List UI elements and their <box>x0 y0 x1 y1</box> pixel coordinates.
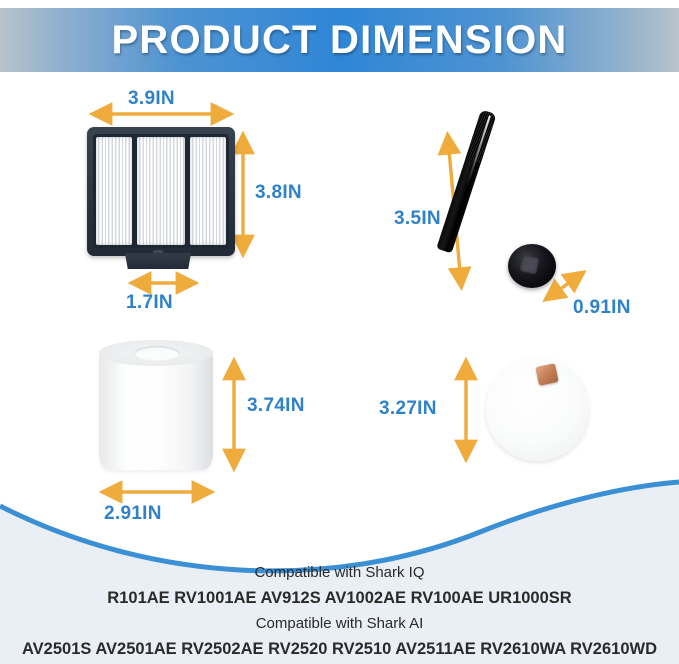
hepa-filter-image <box>87 127 235 256</box>
foam-roll-filter-center-hole <box>134 346 180 361</box>
foam-roll-filter-body <box>99 352 213 470</box>
dimension-label-brush-length: 3.5IN <box>394 208 441 230</box>
compatibility-line-iq-models: R101AE RV1001AE AV912S AV1002AE RV100AE … <box>0 589 679 608</box>
dimension-label-brush-hub: 0.91IN <box>573 297 631 319</box>
round-foam-filter-copper-tab <box>535 363 559 386</box>
dimension-label-disc-diameter: 3.27IN <box>379 398 437 420</box>
hepa-pleat-middle <box>137 137 185 245</box>
hepa-filter-tab <box>122 253 194 269</box>
dimension-label-filter-width: 3.9IN <box>128 88 175 110</box>
compatibility-line-ai-models: AV2501S AV2501AE RV2502AE RV2520 RV2510 … <box>0 640 679 659</box>
compatibility-line-ai-label: Compatible with Shark AI <box>0 615 679 632</box>
hepa-pleat-right <box>190 137 226 245</box>
hepa-filter-pleat-group <box>93 134 229 248</box>
dimension-label-filter-tab: 1.7IN <box>126 292 173 314</box>
dimension-label-filter-height: 3.8IN <box>255 182 302 204</box>
footer-section: Compatible with Shark IQ R101AE RV1001AE… <box>0 470 679 664</box>
hepa-pleat-left <box>96 137 132 245</box>
dimension-label-roll-height: 3.74IN <box>247 395 305 417</box>
side-brush-mount-hole <box>519 254 539 274</box>
compatibility-line-iq-label: Compatible with Shark IQ <box>0 564 679 581</box>
product-dimension-infographic: PRODUCT DIMENSION <box>0 0 679 664</box>
